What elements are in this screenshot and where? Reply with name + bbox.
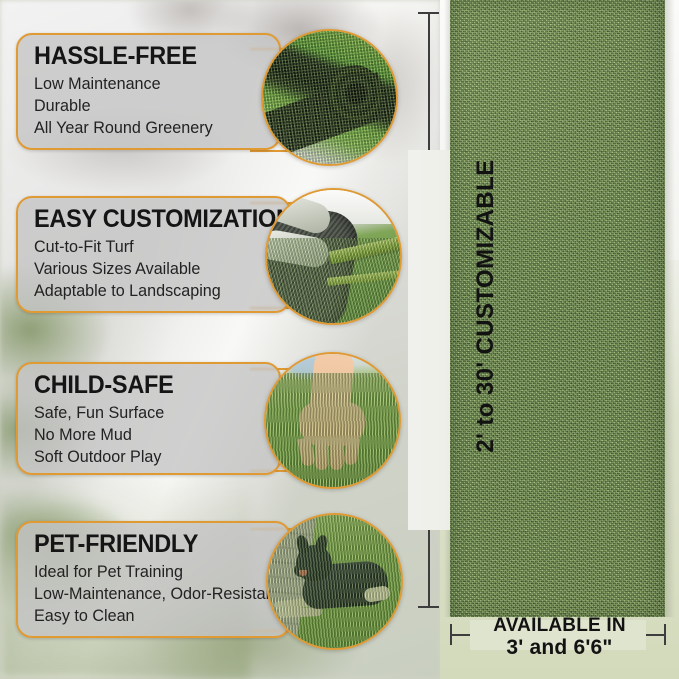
- feature-bullet: Easy to Clean: [34, 605, 263, 627]
- length-dimension-label: 2' to 30' CUSTOMIZABLE: [472, 116, 500, 496]
- feature-bullet: Low-Maintenance, Odor-Resistant: [34, 583, 263, 605]
- feature-image-child-hand: [264, 352, 401, 489]
- length-dimension-label-wrapper: 2' to 30' CUSTOMIZABLE: [428, 0, 429, 679]
- feature-card-child-safe: CHILD-SAFE Safe, Fun Surface No More Mud…: [16, 362, 281, 475]
- width-dimension-label-line2: 3' and 6'6": [440, 637, 679, 660]
- feature-image-dog-on-turf: [266, 513, 403, 650]
- feature-image-turf-installation: [265, 188, 402, 325]
- width-dimension-label: AVAILABLE IN 3' and 6'6": [440, 616, 679, 659]
- feature-bullet: Safe, Fun Surface: [34, 402, 253, 424]
- feature-title: HASSLE-FREE: [34, 43, 251, 70]
- feature-bullet: Ideal for Pet Training: [34, 561, 263, 583]
- feature-bullet: Durable: [34, 95, 253, 117]
- feature-bullet: Adaptable to Landscaping: [34, 280, 263, 302]
- feature-title: CHILD-SAFE: [34, 372, 251, 399]
- length-label-backdrop: [408, 150, 450, 530]
- feature-card-hassle-free: HASSLE-FREE Low Maintenance Durable All …: [16, 33, 281, 150]
- turf-roll-shadow-right: [665, 0, 675, 617]
- feature-card-easy-customization: EASY CUSTOMIZATION Cut-to-Fit Turf Vario…: [16, 196, 291, 313]
- infographic-canvas: HASSLE-FREE Low Maintenance Durable All …: [0, 0, 679, 679]
- feature-bullet: Cut-to-Fit Turf: [34, 236, 263, 258]
- feature-title: EASY CUSTOMIZATION: [34, 206, 261, 233]
- feature-card-pet-friendly: PET-FRIENDLY Ideal for Pet Training Low-…: [16, 521, 291, 638]
- feature-title: PET-FRIENDLY: [34, 531, 261, 558]
- feature-image-rolled-turf: [261, 29, 398, 166]
- feature-bullet: No More Mud: [34, 424, 253, 446]
- feature-bullet: All Year Round Greenery: [34, 117, 253, 139]
- feature-bullet: Low Maintenance: [34, 73, 253, 95]
- feature-bullet: Soft Outdoor Play: [34, 446, 253, 468]
- width-dimension-label-line1: AVAILABLE IN: [440, 616, 679, 637]
- feature-bullet: Various Sizes Available: [34, 258, 263, 280]
